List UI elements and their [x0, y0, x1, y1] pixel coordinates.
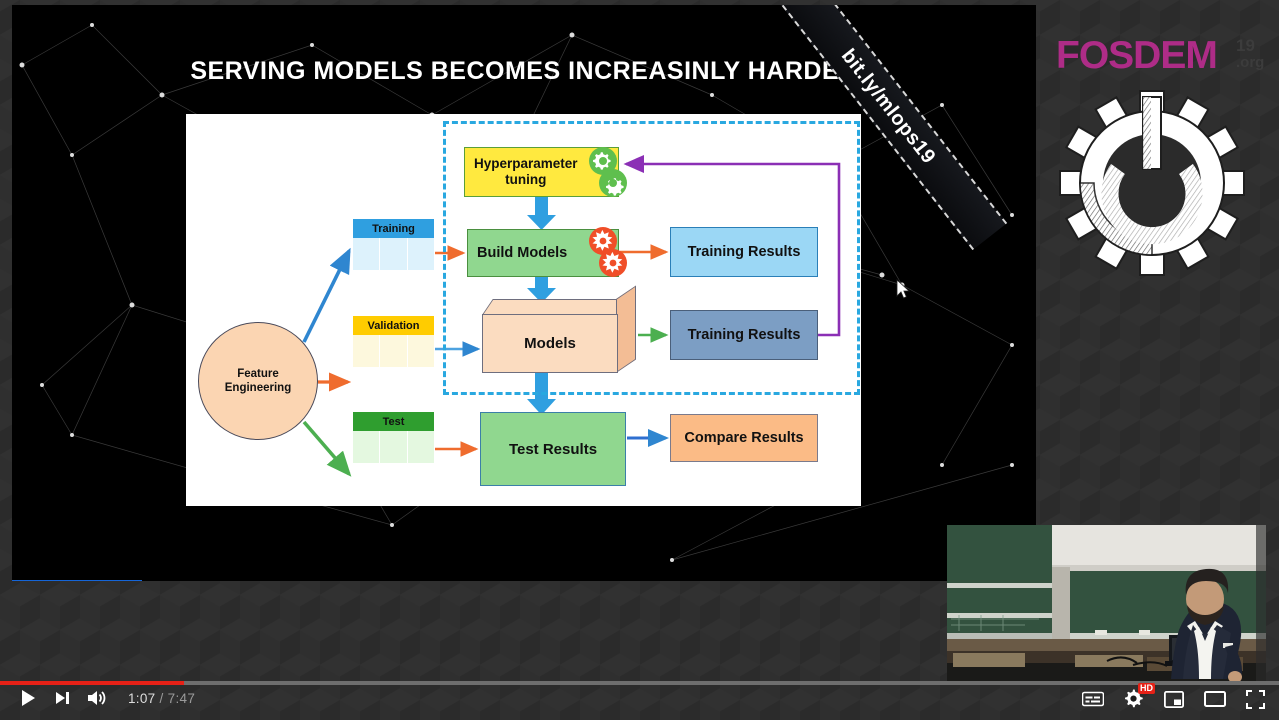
build-models-label: Build Models [477, 245, 567, 261]
node-training-results-1[interactable]: Training Results [670, 227, 818, 277]
video-control-bar[interactable]: 1:07 / 7:47 HD [0, 681, 1279, 720]
play-icon [18, 688, 38, 708]
node-models[interactable]: Models [482, 299, 618, 373]
slide-progress-bar [12, 580, 142, 581]
time-separator: / [160, 691, 164, 706]
node-hyperparameter-tuning[interactable]: Hyperparameter tuning [464, 147, 619, 197]
play-button[interactable] [18, 688, 38, 708]
settings-button[interactable]: HD [1124, 689, 1144, 709]
dataset-training-rows [353, 238, 434, 270]
models-label: Models [482, 314, 618, 373]
dataset-test-label: Test [353, 412, 434, 431]
theater-mode-icon [1204, 691, 1226, 707]
next-video-button[interactable] [52, 688, 72, 708]
speaker-camera-image [947, 525, 1266, 681]
node-build-models[interactable]: Build Models [467, 229, 619, 277]
dataset-training-label: Training [353, 219, 434, 238]
fullscreen-icon [1246, 690, 1265, 709]
controls-right-group: HD [1082, 689, 1265, 709]
compare-results-label: Compare Results [684, 430, 803, 446]
video-stage[interactable]: SERVING MODELS BECOMES INCREASINLY HARDE… [12, 5, 1036, 581]
controls-left-group: 1:07 / 7:47 [18, 688, 195, 708]
node-compare-results[interactable]: Compare Results [670, 414, 818, 462]
fosdem-brand-panel: FOSDEM 19 .org [1040, 18, 1272, 288]
hyper-label-line2: tuning [505, 172, 546, 187]
slide-canvas: Feature Engineering Training Validation … [186, 114, 861, 506]
models-box-top [482, 299, 629, 315]
training-results-2-label: Training Results [688, 327, 801, 343]
dataset-validation[interactable]: Validation [353, 316, 434, 367]
node-test-results[interactable]: Test Results [480, 412, 626, 486]
youtube-player-page: SERVING MODELS BECOMES INCREASINLY HARDE… [0, 0, 1279, 720]
volume-icon [86, 688, 108, 708]
test-results-label: Test Results [509, 441, 597, 458]
training-results-1-label: Training Results [688, 244, 801, 260]
total-time: 7:47 [168, 691, 195, 706]
hyper-label-line1: Hyperparameter [474, 156, 578, 171]
volume-button[interactable] [86, 688, 108, 708]
subtitles-icon [1082, 691, 1104, 707]
speaker-picture-in-picture[interactable] [947, 525, 1266, 681]
time-display: 1:07 / 7:47 [128, 691, 195, 706]
fosdem-year: 19 [1236, 36, 1255, 56]
dataset-test[interactable]: Test [353, 412, 434, 463]
fullscreen-button[interactable] [1246, 690, 1265, 709]
dataset-validation-rows [353, 335, 434, 367]
current-time: 1:07 [128, 691, 155, 706]
dataset-validation-label: Validation [353, 316, 434, 335]
dataset-test-rows [353, 431, 434, 463]
fosdem-tld: .org [1236, 54, 1264, 71]
next-video-icon [52, 688, 72, 708]
dataset-training[interactable]: Training [353, 219, 434, 270]
node-feature-engineering[interactable]: Feature Engineering [198, 322, 318, 440]
subtitles-button[interactable] [1082, 691, 1104, 707]
miniplayer-icon [1164, 691, 1184, 708]
quality-badge: HD [1138, 683, 1155, 694]
models-box-side [616, 286, 636, 373]
fe-label-line1: Feature [237, 368, 279, 380]
fosdem-gear-power-logo [1050, 88, 1255, 278]
progress-played [0, 681, 184, 685]
fe-label-line2: Engineering [225, 382, 291, 394]
miniplayer-button[interactable] [1164, 691, 1184, 708]
node-training-results-2[interactable]: Training Results [670, 310, 818, 360]
mouse-cursor [896, 279, 910, 299]
progress-scrubber[interactable] [0, 681, 1279, 685]
fosdem-wordmark: FOSDEM [1056, 34, 1217, 78]
theater-mode-button[interactable] [1204, 691, 1226, 707]
